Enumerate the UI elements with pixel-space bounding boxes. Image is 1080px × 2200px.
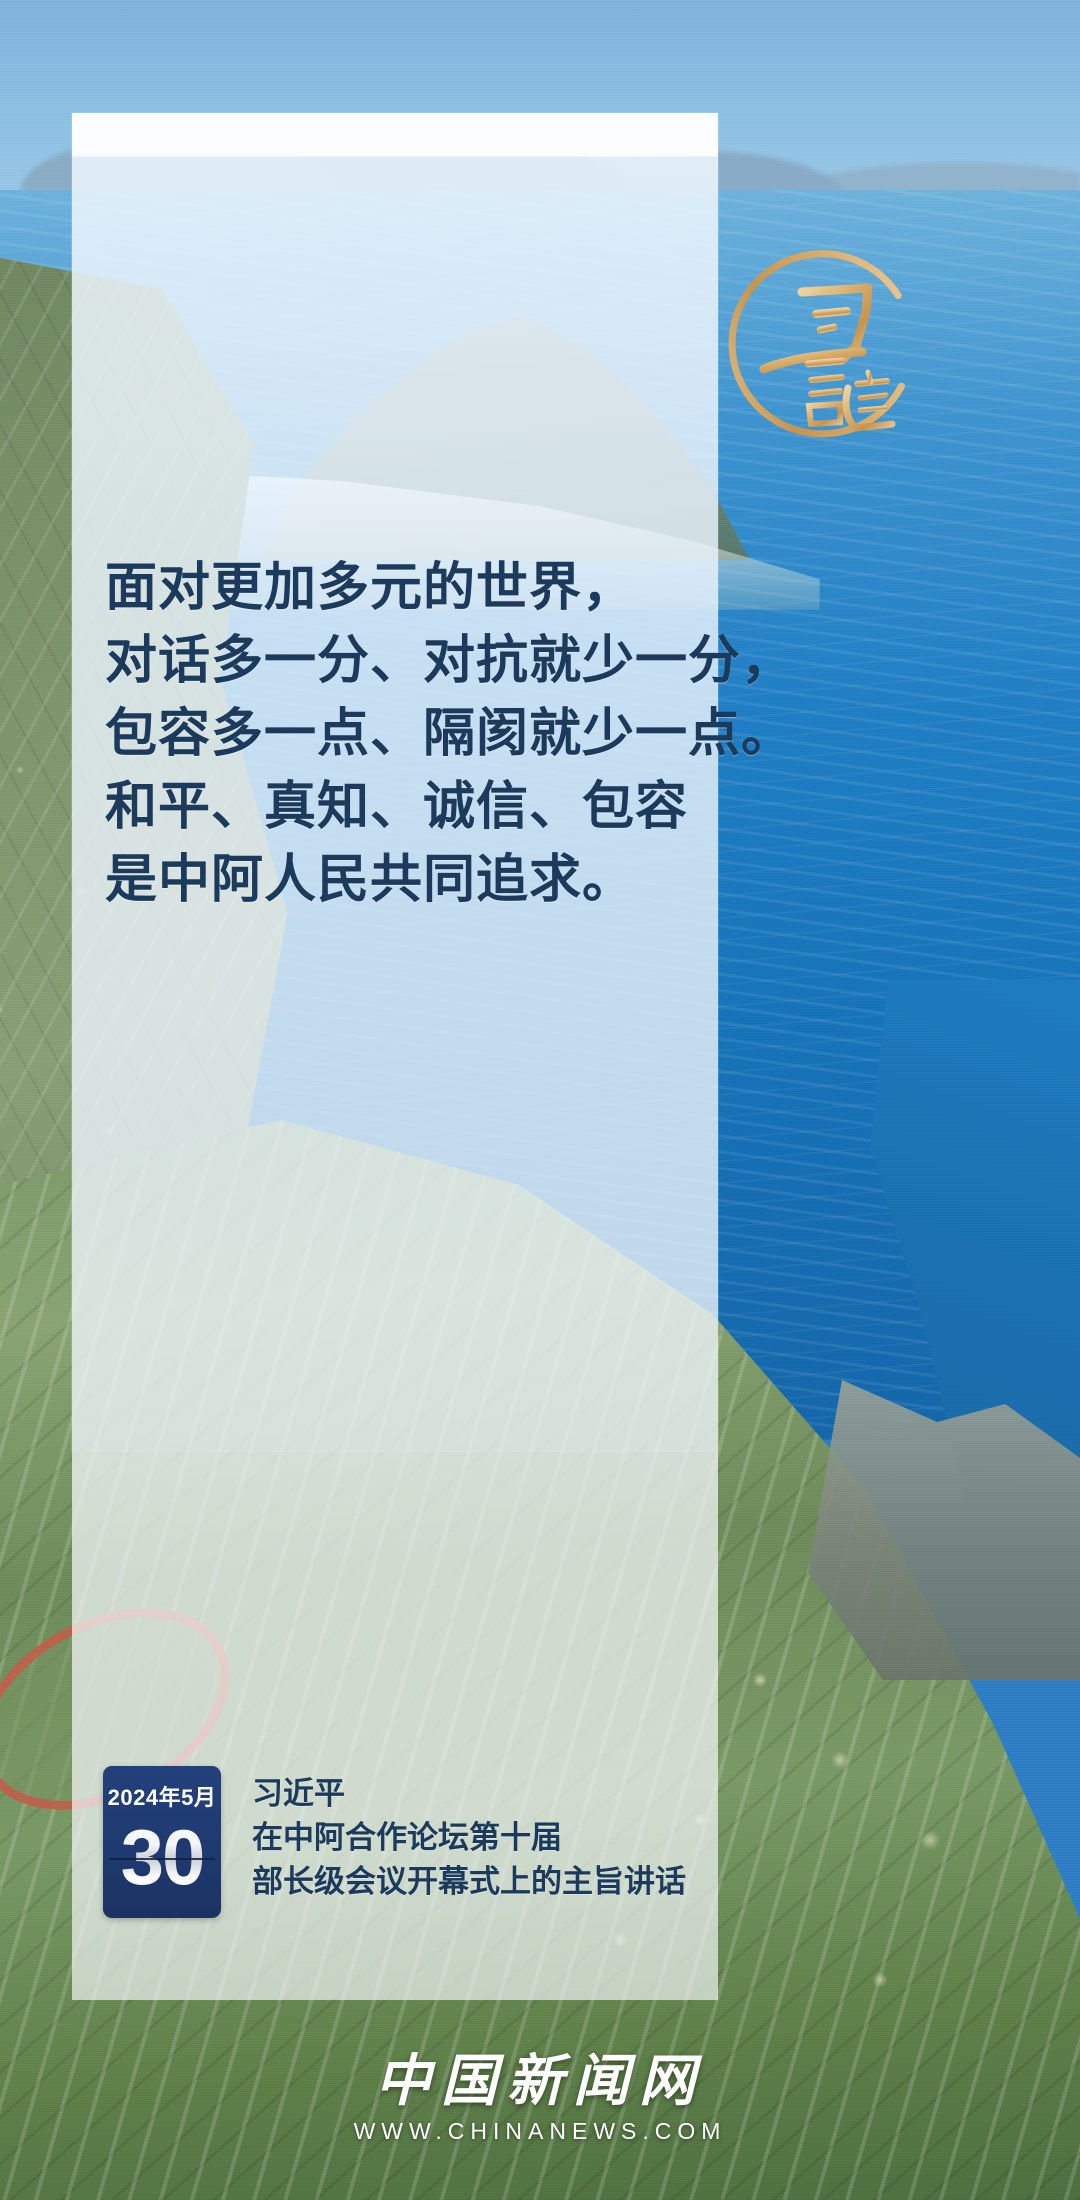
quote-line-4: 和平、真知、诚信、包容 (105, 771, 705, 844)
quote-text: 面对更加多元的世界， 对话多一分、对抗就少一分， 包容多一点、隔阂就少一点。 和… (105, 552, 705, 917)
poster-root: 面对更加多元的世界， 对话多一分、对抗就少一分， 包容多一点、隔阂就少一点。 和… (0, 0, 1080, 2200)
xi-yan-dao-seal-icon (716, 238, 928, 450)
watermark-block: 中国新闻网 WWW.CHINANEWS.COM (0, 2050, 1080, 2145)
date-day-number: 30 (103, 1808, 221, 1906)
watermark-site-url: WWW.CHINANEWS.COM (0, 2118, 1080, 2145)
watermark-site-name: 中国新闻网 (0, 2050, 1080, 2114)
quote-line-3: 包容多一点、隔阂就少一点。 (105, 698, 705, 771)
attribution-line-1: 习近平 (252, 1772, 686, 1816)
attribution-line-3: 部长级会议开幕式上的主旨讲话 (252, 1860, 686, 1904)
quote-line-2: 对话多一分、对抗就少一分， (105, 625, 705, 698)
attribution-text: 习近平 在中阿合作论坛第十届 部长级会议开幕式上的主旨讲话 (252, 1766, 686, 1904)
credit-block: 2024年5月 30 习近平 在中阿合作论坛第十届 部长级会议开幕式上的主旨讲话 (103, 1766, 686, 1918)
date-badge: 2024年5月 30 (103, 1766, 221, 1918)
attribution-line-2: 在中阿合作论坛第十届 (252, 1816, 686, 1860)
quote-line-1: 面对更加多元的世界， (105, 552, 705, 625)
quote-line-5: 是中阿人民共同追求。 (105, 844, 705, 917)
date-flip-divider (109, 1858, 215, 1860)
